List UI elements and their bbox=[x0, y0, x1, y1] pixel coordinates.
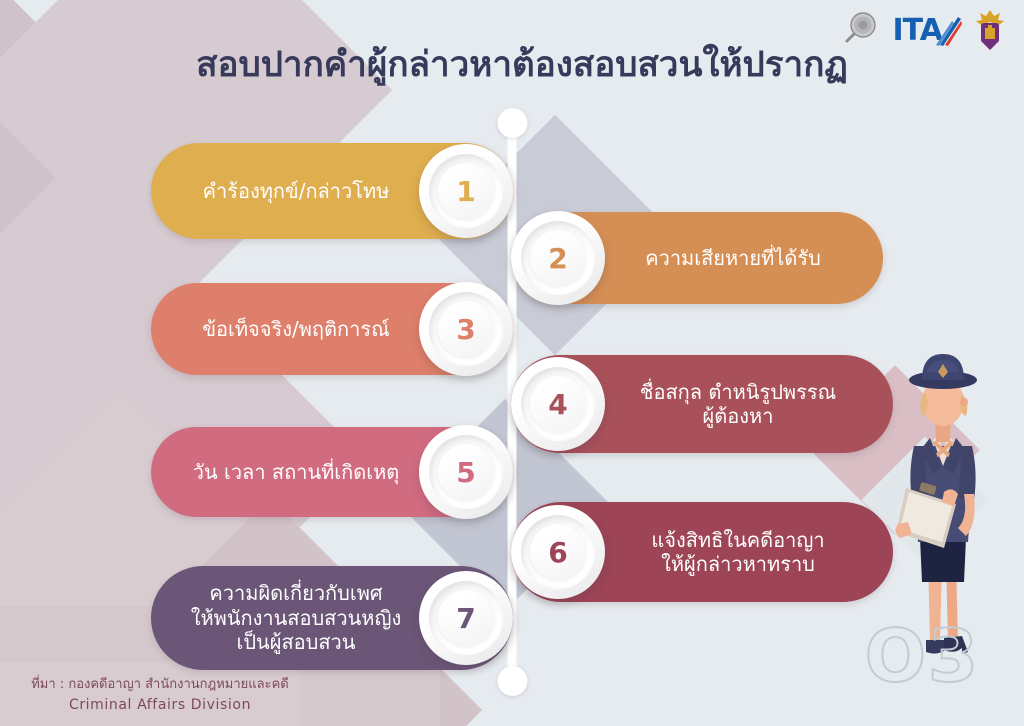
timeline-top-dot bbox=[497, 108, 527, 138]
timeline-item-7[interactable]: ความผิดเกี่ยวกับเพศ ให้พนักงานสอบสวนหญิง… bbox=[151, 566, 513, 670]
footer-source-en: Criminal Affairs Division bbox=[0, 695, 320, 716]
royal-thai-police-emblem-icon bbox=[972, 8, 1008, 52]
ita-swoosh-icon bbox=[936, 15, 962, 45]
police-seal-logo-icon bbox=[838, 8, 882, 52]
timeline-item-number: 6 bbox=[548, 536, 567, 569]
timeline-item-number-badge: 2 bbox=[511, 211, 605, 305]
timeline-item-label: วัน เวลา สถานที่เกิดเหตุ bbox=[151, 456, 419, 488]
timeline-item-number: 7 bbox=[456, 602, 475, 635]
timeline-item-number-badge: 5 bbox=[419, 425, 513, 519]
ita-logo: ITA bbox=[892, 13, 962, 48]
header-logo-group: ITA bbox=[838, 8, 1008, 52]
timeline-item-label: ความผิดเกี่ยวกับเพศ ให้พนักงานสอบสวนหญิง… bbox=[151, 577, 419, 658]
timeline-item-6[interactable]: แจ้งสิทธิในคดีอาญา ให้ผู้กล่าวหาทราบ6 bbox=[511, 502, 893, 602]
timeline-item-4[interactable]: ชื่อสกุล ตำหนิรูปพรรณ ผู้ต้องหา4 bbox=[511, 355, 893, 453]
timeline-item-number-badge: 6 bbox=[511, 505, 605, 599]
footer-source-th: ที่มา : กองคดีอาญา สำนักงานกฎหมายและคดี bbox=[0, 676, 320, 695]
timeline-item-number-badge: 7 bbox=[419, 571, 513, 665]
timeline-item-label: คำร้องทุกข์/กล่าวโทษ bbox=[151, 175, 419, 207]
page-number: O3 bbox=[865, 614, 980, 698]
infographic-page: ITA สอบปากคำผู้กล่าวหาต้องสอบสวนให้ปรากฏ bbox=[0, 0, 1024, 726]
timeline-item-number-badge: 1 bbox=[419, 144, 513, 238]
timeline-item-label: แจ้งสิทธิในคดีอาญา ให้ผู้กล่าวหาทราบ bbox=[605, 524, 893, 581]
timeline-item-number-badge: 3 bbox=[419, 282, 513, 376]
timeline-item-number: 1 bbox=[456, 175, 475, 208]
timeline-item-2[interactable]: ความเสียหายที่ได้รับ2 bbox=[511, 212, 883, 304]
timeline-item-1[interactable]: คำร้องทุกข์/กล่าวโทษ1 bbox=[151, 143, 513, 239]
timeline-item-5[interactable]: วัน เวลา สถานที่เกิดเหตุ5 bbox=[151, 427, 513, 517]
timeline-item-label: ความเสียหายที่ได้รับ bbox=[605, 242, 883, 274]
timeline-item-3[interactable]: ข้อเท็จจริง/พฤติการณ์3 bbox=[151, 283, 513, 375]
timeline-item-label: ข้อเท็จจริง/พฤติการณ์ bbox=[151, 313, 419, 345]
timeline-item-label: ชื่อสกุล ตำหนิรูปพรรณ ผู้ต้องหา bbox=[605, 376, 893, 433]
timeline-bottom-dot bbox=[497, 666, 527, 696]
footer-source: ที่มา : กองคดีอาญา สำนักงานกฎหมายและคดี … bbox=[0, 676, 320, 716]
ita-logo-text: ITA bbox=[892, 13, 942, 48]
timeline-item-number: 3 bbox=[456, 313, 475, 346]
timeline-item-number: 5 bbox=[456, 456, 475, 489]
timeline-item-number: 2 bbox=[548, 242, 567, 275]
timeline-item-number: 4 bbox=[548, 388, 567, 421]
timeline-item-number-badge: 4 bbox=[511, 357, 605, 451]
